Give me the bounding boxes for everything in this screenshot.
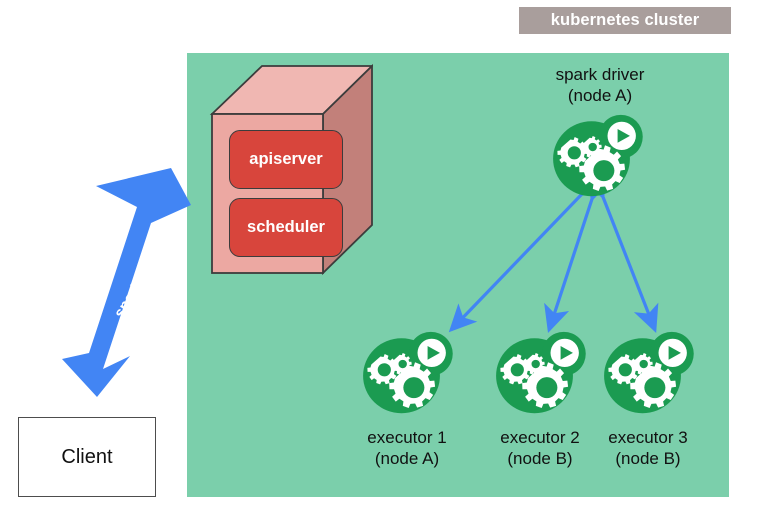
spark-driver-node[interactable] <box>551 113 643 199</box>
diagram-canvas: kubernetes cluster <box>0 0 761 516</box>
executor-1-node[interactable] <box>361 330 453 416</box>
executor-3-caption: executor 3 (node B) <box>576 427 720 469</box>
gears-play-node-icon <box>551 113 643 199</box>
client-label: Client <box>61 446 112 469</box>
kubernetes-cluster-badge: kubernetes cluster <box>519 7 731 34</box>
scheduler-label: scheduler <box>247 218 325 237</box>
executor-3-node[interactable] <box>602 330 694 416</box>
scheduler-chip[interactable]: scheduler <box>229 198 343 257</box>
executor-1-caption: executor 1 (node A) <box>335 427 479 469</box>
play-button-icon <box>608 122 636 150</box>
play-button-icon <box>418 339 446 367</box>
spark-submit-arrow: spark-submit <box>55 160 225 405</box>
executor-2-node[interactable] <box>494 330 586 416</box>
gears-play-node-icon <box>494 330 586 416</box>
client-box[interactable]: Client <box>18 417 156 497</box>
gears-play-node-icon <box>361 330 453 416</box>
kubernetes-cluster-label: kubernetes cluster <box>551 11 700 30</box>
play-button-icon <box>659 339 687 367</box>
spark-driver-caption: spark driver (node A) <box>526 64 674 106</box>
apiserver-label: apiserver <box>249 150 322 169</box>
play-button-icon <box>551 339 579 367</box>
apiserver-chip[interactable]: apiserver <box>229 130 343 189</box>
gears-play-node-icon <box>602 330 694 416</box>
block-arrow-shape <box>62 168 191 397</box>
control-plane-cube: apiserver scheduler <box>205 62 373 277</box>
